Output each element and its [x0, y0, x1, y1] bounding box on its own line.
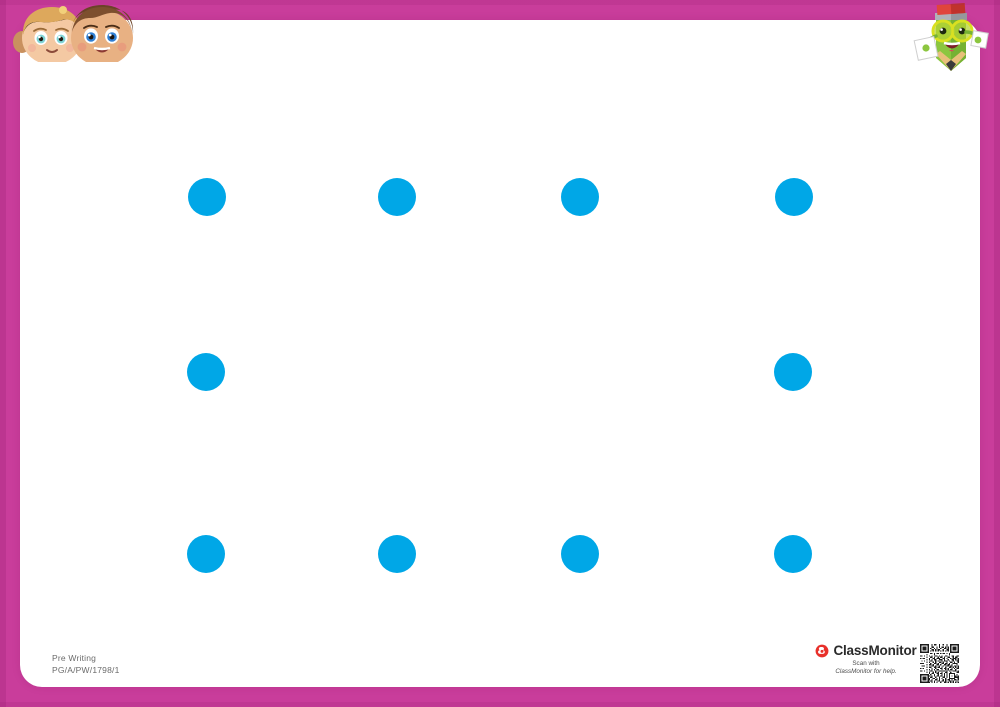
- brand-text-group: ClassMonitor Scan with ClassMonitor for …: [820, 643, 912, 676]
- brand-block: ClassMonitor Scan with ClassMonitor for …: [820, 643, 965, 687]
- brand-name: ClassMonitor: [833, 644, 916, 658]
- dot-r2c1[interactable]: [187, 353, 225, 391]
- footer-code: PG/A/PW/1798/1: [52, 664, 120, 676]
- brand-tagline-line2: ClassMonitor for help.: [835, 668, 896, 676]
- dot-r1c4[interactable]: [775, 178, 813, 216]
- worksheet-page: Give your child colour pencils or sketch…: [0, 0, 1000, 707]
- children-illustration: [6, 0, 142, 62]
- footer-metadata: Pre Writing PG/A/PW/1798/1: [52, 652, 120, 676]
- dot-r2c4[interactable]: [774, 353, 812, 391]
- qr-code-icon[interactable]: [919, 643, 960, 684]
- pencil-character-illustration: [912, 2, 996, 74]
- footer-subject: Pre Writing: [52, 652, 120, 664]
- brand-tagline: Scan with ClassMonitor for help.: [835, 660, 896, 676]
- dot-r3c3[interactable]: [561, 535, 599, 573]
- dot-r3c2[interactable]: [378, 535, 416, 573]
- dot-r1c1[interactable]: [188, 178, 226, 216]
- dot-grid: [0, 0, 1000, 707]
- dot-r1c2[interactable]: [378, 178, 416, 216]
- brand-lockup: ClassMonitor: [815, 644, 916, 658]
- brand-tagline-line1: Scan with: [835, 660, 896, 668]
- dot-r1c3[interactable]: [561, 178, 599, 216]
- dot-r3c4[interactable]: [774, 535, 812, 573]
- classmonitor-flower-icon: [815, 644, 829, 658]
- dot-r3c1[interactable]: [187, 535, 225, 573]
